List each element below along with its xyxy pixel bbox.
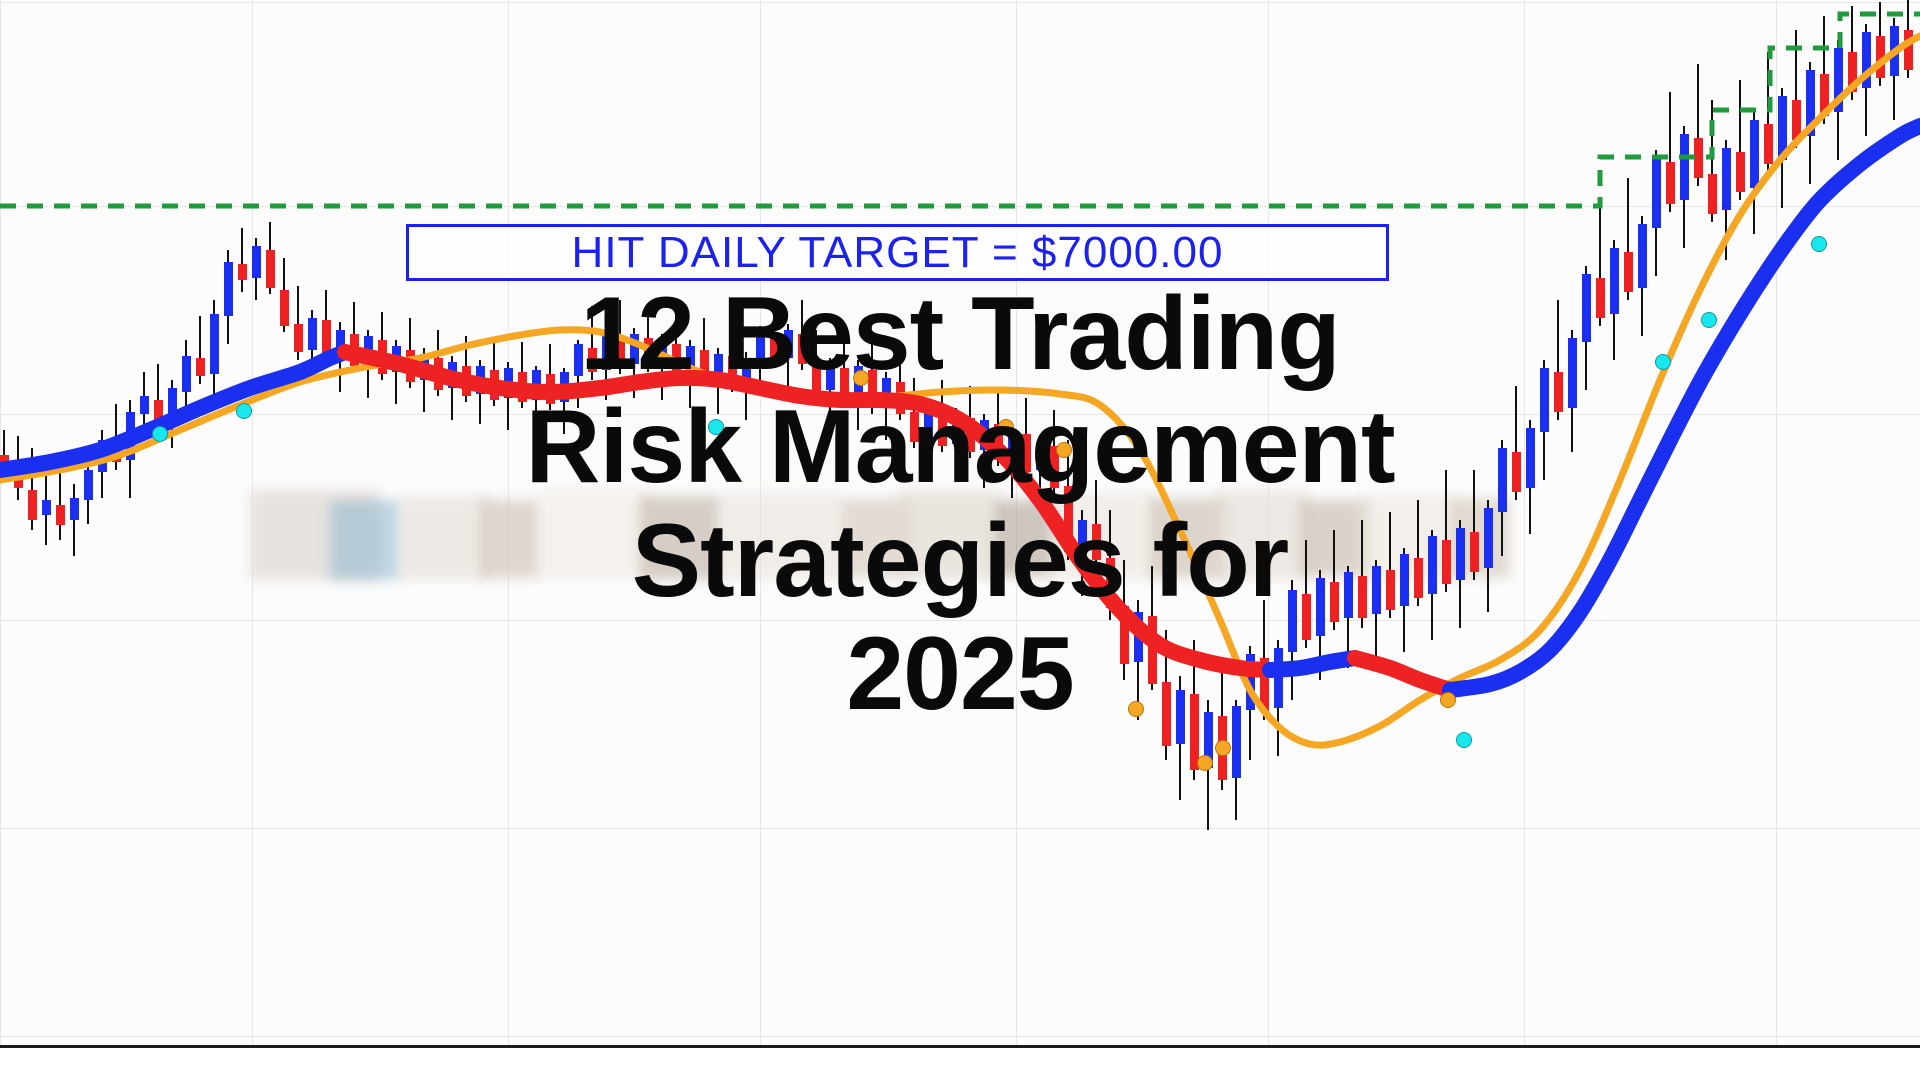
daily-target-text: HIT DAILY TARGET = $7000.00 xyxy=(572,228,1224,278)
ma-fast-line xyxy=(0,36,1920,745)
signal-marker-orange xyxy=(853,370,869,386)
ma-slow-blue-dip xyxy=(1270,658,1355,670)
daily-target-label: HIT DAILY TARGET = $7000.00 xyxy=(406,224,1389,281)
indicator-overlay xyxy=(0,0,1920,1045)
signal-marker-cyan xyxy=(708,419,724,435)
ma-slow-red-mid xyxy=(345,352,1270,670)
signal-marker-cyan xyxy=(236,403,252,419)
ma-slow-blue-right xyxy=(1450,126,1920,690)
ma-slow-blue-left xyxy=(0,352,345,470)
signal-marker-cyan xyxy=(1456,732,1472,748)
signal-marker-orange xyxy=(1197,755,1213,771)
trading-chart-thumbnail: HIT DAILY TARGET = $7000.00 12 Best Trad… xyxy=(0,0,1920,1080)
signal-marker-orange xyxy=(1440,692,1456,708)
signal-marker-orange xyxy=(1056,442,1072,458)
signal-marker-orange xyxy=(998,419,1014,435)
signal-marker-cyan xyxy=(1655,354,1671,370)
ma-slow-red-kick xyxy=(1355,658,1450,690)
signal-marker-orange xyxy=(1128,701,1144,717)
chart-plot-area xyxy=(0,0,1920,1045)
daily-target-step-line xyxy=(0,14,1920,206)
signal-marker-cyan xyxy=(1811,236,1827,252)
signal-marker-cyan xyxy=(152,426,168,442)
signal-marker-cyan xyxy=(1701,312,1717,328)
signal-marker-orange xyxy=(1215,740,1231,756)
x-axis-area xyxy=(0,1048,1920,1080)
